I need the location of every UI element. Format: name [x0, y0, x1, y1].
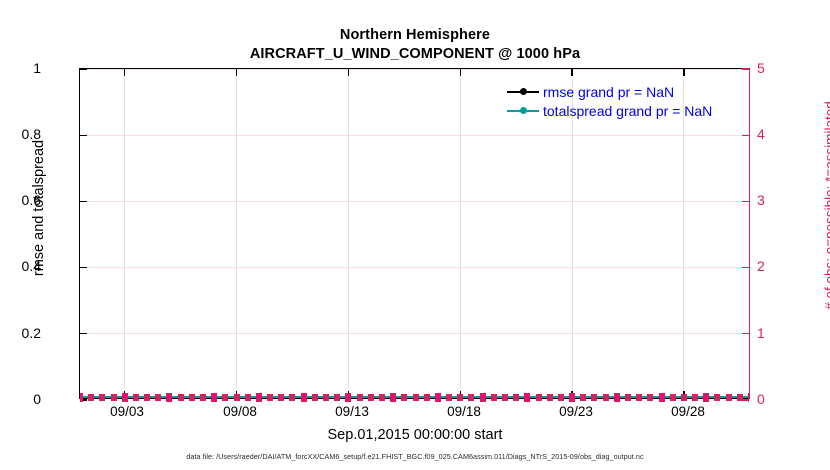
- obs-marker: [670, 394, 676, 401]
- obs-marker: [424, 394, 430, 401]
- xtick-label-3: 09/18: [429, 404, 499, 419]
- obs-marker: [122, 393, 128, 402]
- chart-legend: rmse grand pr = NaN totalspread grand pr…: [507, 82, 747, 120]
- obs-marker: [323, 394, 329, 401]
- horizontal-gridline: [80, 135, 749, 136]
- x-axis-tick-top: [683, 69, 684, 76]
- obs-marker: [625, 394, 631, 401]
- obs-marker: [267, 394, 273, 401]
- obs-marker: [491, 394, 497, 401]
- y2tick-label-0: 0: [757, 392, 765, 406]
- y-axis-tick: [80, 267, 87, 268]
- obs-marker: [647, 394, 653, 401]
- x-axis-tick-top: [348, 69, 349, 76]
- obs-marker: [99, 394, 105, 401]
- obs-marker: [726, 394, 732, 401]
- y-axis-tick: [80, 135, 87, 136]
- obs-marker: [278, 394, 284, 401]
- y2-axis-label: # of obs: o=possible; *=assimilated: [823, 66, 830, 346]
- y-axis-tick: [80, 68, 87, 69]
- y-axis-tick: [80, 333, 87, 334]
- xtick-label-5: 09/28: [653, 404, 723, 419]
- horizontal-gridline: [80, 201, 749, 202]
- obs-marker: [211, 393, 217, 402]
- y2tick-label-2: 2: [757, 259, 765, 273]
- obs-marker: [737, 394, 743, 401]
- legend-label-rmse: rmse grand pr = NaN: [543, 84, 674, 100]
- obs-marker: [155, 394, 161, 401]
- xtick-label-4: 09/23: [541, 404, 611, 419]
- obs-marker: [569, 393, 575, 402]
- obs-marker: [379, 394, 385, 401]
- obs-marker: [591, 394, 597, 401]
- x-axis-tick-top: [124, 69, 125, 76]
- obs-marker: [334, 394, 340, 401]
- obs-marker: [245, 394, 251, 401]
- obs-marker: [524, 393, 530, 402]
- x-axis-tick-top: [571, 69, 572, 76]
- xtick-label-1: 09/08: [205, 404, 275, 419]
- obs-marker: [222, 394, 228, 401]
- obs-marker: [536, 394, 542, 401]
- data-file-footer: data file: /Users/raeder/DAI/ATM_forcXX/…: [0, 452, 830, 461]
- obs-marker: [166, 393, 172, 402]
- y2tick-label-1: 1: [757, 326, 765, 340]
- obs-marker: [178, 394, 184, 401]
- obs-marker: [446, 394, 452, 401]
- obs-marker: [88, 394, 94, 401]
- y2-axis-tick: [742, 135, 749, 136]
- obs-marker: [636, 394, 642, 401]
- y2tick-label-5: 5: [757, 61, 765, 75]
- y2-axis-tick: [742, 267, 749, 268]
- x-axis-tick-top: [236, 69, 237, 76]
- obs-marker: [368, 394, 374, 401]
- obs-marker: [558, 394, 564, 401]
- horizontal-gridline: [80, 333, 749, 334]
- horizontal-gridline: [80, 69, 749, 70]
- obs-count-marker-band: [80, 393, 749, 402]
- chart-title-sub: AIRCRAFT_U_WIND_COMPONENT @ 1000 hPa: [0, 45, 830, 64]
- obs-marker: [345, 393, 351, 402]
- y2-axis-tick: [742, 201, 749, 202]
- obs-marker: [468, 394, 474, 401]
- legend-item-totalspread: totalspread grand pr = NaN: [507, 101, 747, 120]
- obs-marker: [502, 394, 508, 401]
- y2-axis-tick: [742, 333, 749, 334]
- obs-marker: [133, 394, 139, 401]
- vertical-gridline: [460, 69, 461, 398]
- obs-marker: [80, 393, 83, 402]
- obs-marker: [580, 394, 586, 401]
- legend-item-rmse: rmse grand pr = NaN: [507, 82, 747, 101]
- obs-marker: [714, 394, 720, 401]
- obs-marker: [547, 394, 553, 401]
- y2tick-label-3: 3: [757, 193, 765, 207]
- obs-marker: [480, 393, 486, 402]
- chart-title-block: Northern Hemisphere AIRCRAFT_U_WIND_COMP…: [0, 26, 830, 64]
- obs-marker: [681, 394, 687, 401]
- obs-marker: [614, 393, 620, 402]
- legend-label-totalspread: totalspread grand pr = NaN: [543, 103, 712, 119]
- obs-marker: [413, 394, 419, 401]
- obs-marker: [390, 393, 396, 402]
- obs-marker: [301, 393, 307, 402]
- ytick-label-0: 0: [33, 392, 41, 406]
- vertical-gridline: [124, 69, 125, 398]
- obs-marker: [603, 394, 609, 401]
- x-axis-tick-top: [460, 69, 461, 76]
- obs-marker: [256, 393, 262, 402]
- legend-marker-rmse-icon: [507, 85, 539, 99]
- y2tick-label-4: 4: [757, 127, 765, 141]
- y2-axis-tick: [742, 68, 749, 69]
- chart-title-main: Northern Hemisphere: [0, 26, 830, 45]
- obs-marker: [435, 393, 441, 402]
- obs-marker: [312, 394, 318, 401]
- obs-marker: [513, 394, 519, 401]
- obs-marker: [703, 393, 709, 402]
- x-axis-label: Sep.01,2015 00:00:00 start: [0, 427, 830, 443]
- obs-marker: [457, 394, 463, 401]
- y-axis-tick: [80, 201, 87, 202]
- obs-marker: [659, 393, 665, 402]
- obs-marker: [111, 394, 117, 401]
- obs-marker: [189, 394, 195, 401]
- xtick-label-0: 09/03: [92, 404, 162, 419]
- vertical-gridline: [348, 69, 349, 398]
- obs-marker: [748, 393, 749, 402]
- obs-marker: [357, 394, 363, 401]
- vertical-gridline: [236, 69, 237, 398]
- legend-marker-totalspread-icon: [507, 104, 539, 118]
- horizontal-gridline: [80, 267, 749, 268]
- obs-marker: [200, 394, 206, 401]
- obs-marker: [144, 394, 150, 401]
- xtick-label-2: 09/13: [317, 404, 387, 419]
- obs-marker: [401, 394, 407, 401]
- obs-marker: [289, 394, 295, 401]
- obs-marker: [234, 394, 240, 401]
- obs-marker: [692, 394, 698, 401]
- y-axis-label: rmse and totalspread: [31, 68, 47, 348]
